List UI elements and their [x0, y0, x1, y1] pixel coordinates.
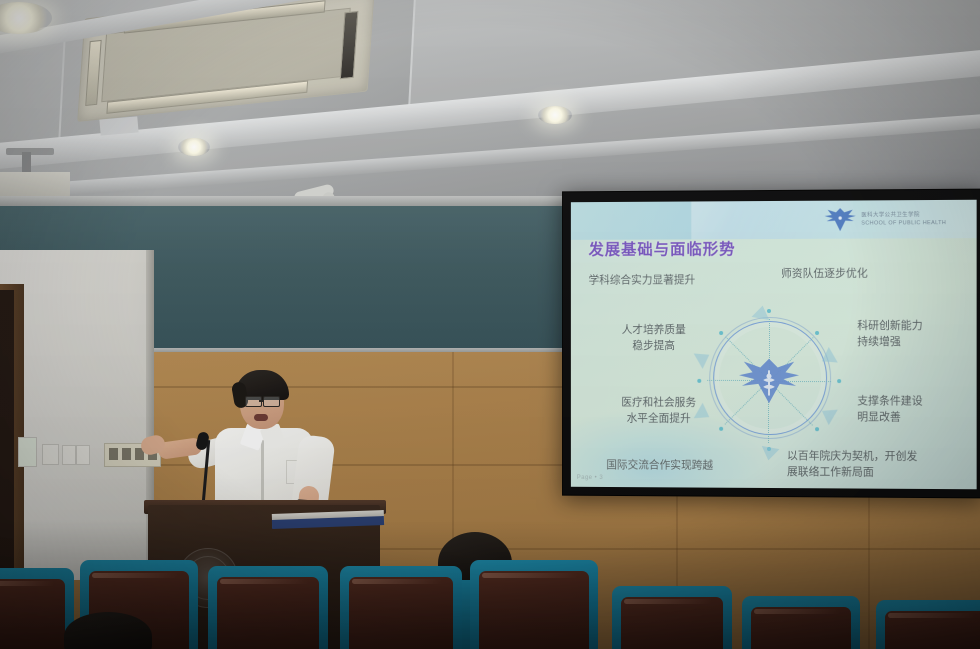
institution-name: 医科大学公共卫生学院 SCHOOL OF PUBLIC HEALTH — [861, 211, 946, 228]
slide-title: 发展基础与面临形势 — [589, 237, 736, 259]
ceiling-light-icon — [178, 138, 210, 156]
auditorium-seat — [742, 596, 860, 649]
diagram-node — [697, 379, 701, 383]
seat-highlight — [624, 599, 712, 604]
seat-highlight — [352, 579, 442, 584]
ceiling — [0, 0, 980, 215]
door-opening — [0, 290, 14, 580]
slide-point-low-left: 医疗和社会服务 水平全面提升 — [585, 396, 733, 428]
seat-highlight — [754, 609, 840, 614]
auditorium-seat — [0, 568, 74, 649]
ac-vent-icon — [85, 40, 101, 106]
diagram-chevron-icon — [752, 304, 772, 320]
slide-logo: 医科大学公共卫生学院 SCHOOL OF PUBLIC HEALTH — [823, 202, 970, 237]
light-switch-plate[interactable] — [76, 445, 90, 465]
ceiling-light-housing — [99, 116, 138, 135]
auditorium-seat — [470, 560, 598, 649]
eyeglasses-icon — [263, 396, 280, 407]
diagram-node — [837, 379, 841, 383]
diagram-node — [719, 331, 723, 335]
slide-point-low-right: 支撑条件建设 明显改善 — [857, 394, 922, 426]
ceiling-light-icon — [538, 106, 572, 124]
wall-notice-plate — [18, 437, 37, 467]
auditorium-seat — [612, 586, 732, 649]
seat-back — [621, 597, 723, 649]
auditorium-seat — [340, 566, 462, 649]
auditorium-seat — [876, 600, 980, 649]
slide-surface: 医科大学公共卫生学院 SCHOOL OF PUBLIC HEALTH 发展基础与… — [571, 200, 977, 490]
diagram-node — [719, 427, 723, 431]
slide-point-bottom-left: 国际交流合作实现跨越 — [606, 458, 713, 474]
seat-back — [0, 579, 65, 649]
seat-highlight — [888, 613, 976, 618]
speaker-mouth — [254, 414, 268, 421]
projection-screen: 医科大学公共卫生学院 SCHOOL OF PUBLIC HEALTH 发展基础与… — [562, 189, 980, 499]
seat-back — [349, 577, 453, 649]
socket-icon — [109, 448, 118, 460]
photo-scene: 医科大学公共卫生学院 SCHOOL OF PUBLIC HEALTH 发展基础与… — [0, 0, 980, 649]
slide-point-top-left: 学科综合实力显著提升 — [589, 273, 696, 289]
light-switch-plate[interactable] — [62, 445, 76, 465]
seat-highlight — [220, 579, 308, 584]
seat-back — [217, 577, 319, 649]
slide-point-mid-right: 科研创新能力 持续增强 — [857, 319, 922, 350]
socket-icon — [122, 448, 131, 460]
seat-back — [479, 571, 589, 649]
slide-page-marker: Page • 3 — [577, 475, 603, 481]
diagram-node — [815, 427, 819, 431]
auditorium-seat — [208, 566, 328, 649]
institution-line-2: SCHOOL OF PUBLIC HEALTH — [861, 219, 946, 228]
diagram-chevron-icon — [760, 446, 780, 462]
slide-point-mid-left: 人才培养质量 稳步提高 — [594, 323, 713, 354]
slide-point-top-right: 师资队伍逐步优化 — [781, 267, 868, 283]
slide-point-bottom-right: 以百年院庆为契机，开创发 展联络工作新局面 — [787, 449, 917, 481]
seat-highlight — [0, 581, 54, 586]
seat-highlight — [482, 573, 578, 578]
radial-diagram — [689, 301, 849, 462]
eyeglasses-bridge — [259, 400, 264, 402]
winged-caduceus-icon — [823, 206, 857, 232]
winged-caduceus-emblem — [738, 353, 800, 409]
seat-highlight — [92, 573, 178, 578]
diagram-node — [815, 331, 819, 335]
light-switch-plate[interactable] — [42, 444, 59, 465]
